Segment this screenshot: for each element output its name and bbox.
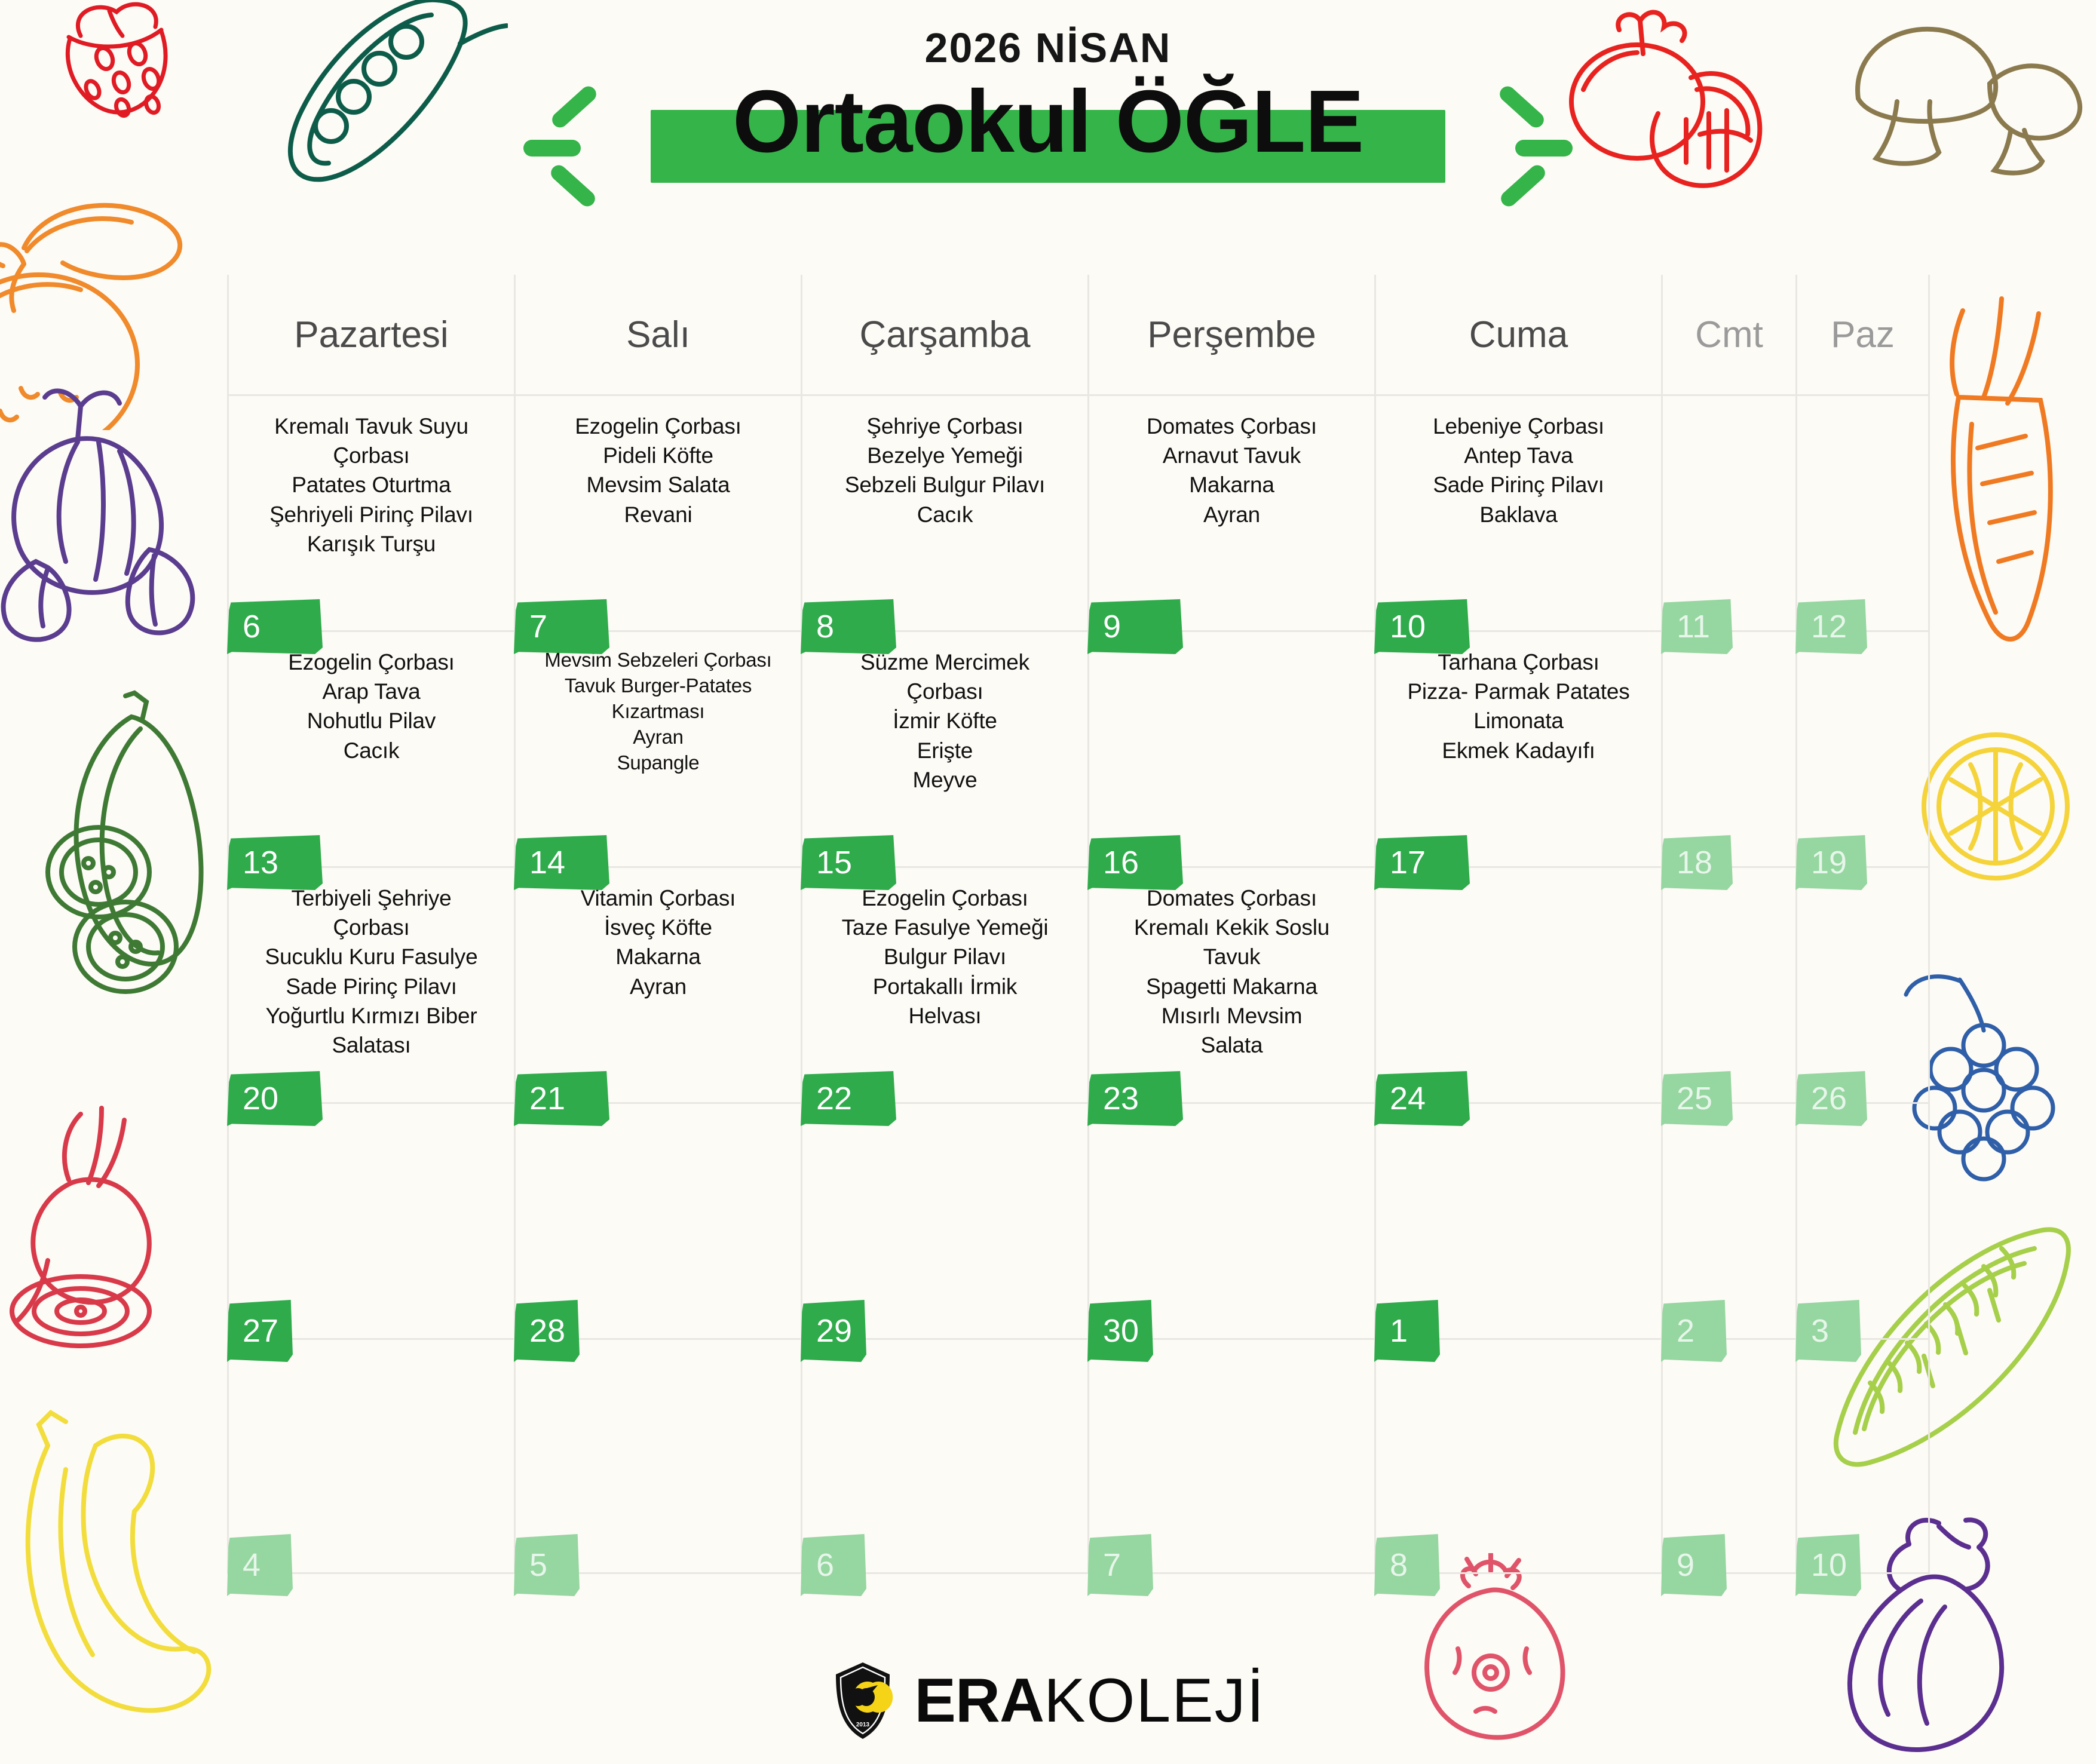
date-badge: 15 [801, 835, 896, 890]
date-badge: 17 [1374, 835, 1470, 890]
day-cell[interactable]: Tarhana Çorbası Pizza- Parmak Patates Li… [1374, 630, 1661, 866]
day-cell[interactable]: Lebeniye Çorbası Antep Tava Sade Pirinç … [1374, 394, 1661, 630]
day-cell[interactable]: 27 [227, 1102, 514, 1338]
shield-year-text: 2013 [856, 1722, 869, 1728]
day-header-paz: Paz [1795, 275, 1930, 394]
date-badge: 4 [227, 1534, 293, 1596]
day-cell[interactable]: 8 [1374, 1338, 1661, 1574]
day-cell[interactable]: 30 [1087, 1102, 1374, 1338]
date-badge: 27 [227, 1300, 293, 1362]
footer-logo: 2013 ERAKOLEJİ [0, 1661, 2096, 1740]
date-badge: 11 [1661, 599, 1733, 654]
menu-text: Ezogelin Çorbası Taze Fasulye Yemeği Bul… [811, 883, 1079, 1030]
menu-text: Lebeniye Çorbası Antep Tava Sade Pirinç … [1384, 412, 1653, 529]
date-badge: 29 [801, 1300, 866, 1362]
date-badge: 3 [1795, 1300, 1861, 1362]
sparkle-right-3 [1498, 162, 1548, 210]
day-cell[interactable]: Süzme Mercimek Çorbası İzmir Köfte Erişt… [801, 630, 1087, 866]
day-cell[interactable]: 7 [1087, 1338, 1374, 1574]
menu-text: Tarhana Çorbası Pizza- Parmak Patates Li… [1384, 648, 1653, 765]
day-cell[interactable]: 25 [1661, 866, 1795, 1102]
date-badge: 5 [514, 1534, 580, 1596]
week-row-3: Terbiyeli Şehriye Çorbası Sucuklu Kuru F… [227, 866, 1918, 1102]
date-badge: 24 [1374, 1071, 1470, 1126]
day-cell[interactable]: 28 [514, 1102, 801, 1338]
day-cell[interactable]: 3 [1795, 1102, 1930, 1338]
day-cell[interactable]: Ezogelin Çorbası Arap Tava Nohutlu Pilav… [227, 630, 514, 866]
day-cell[interactable]: 18 [1661, 630, 1795, 866]
date-badge: 9 [1087, 599, 1183, 654]
day-cell[interactable]: 11 [1661, 394, 1795, 630]
week-row-1: Kremalı Tavuk Suyu Çorbası Patates Oturt… [227, 394, 1918, 630]
day-cell[interactable]: 6 [801, 1338, 1087, 1574]
date-badge: 14 [514, 835, 609, 890]
day-cell[interactable]: 29 [801, 1102, 1087, 1338]
date-badge: 9 [1661, 1534, 1727, 1596]
week-row-2: Ezogelin Çorbası Arap Tava Nohutlu Pilav… [227, 630, 1918, 866]
menu-text: Ezogelin Çorbası Pideli Köfte Mevsim Sal… [524, 412, 792, 529]
sparkle-right-1 [1497, 83, 1547, 131]
menu-calendar: Pazartesi Salı Çarşamba Perşembe Cuma Cm… [227, 275, 1918, 1574]
date-badge: 19 [1795, 835, 1867, 890]
day-cell[interactable]: Mevsim Sebzeleri Çorbası Tavuk Burger-Pa… [514, 630, 801, 866]
menu-text: Mevsim Sebzeleri Çorbası Tavuk Burger-Pa… [524, 648, 792, 775]
date-badge: 25 [1661, 1071, 1733, 1126]
logo-wordmark: ERAKOLEJİ [915, 1665, 1265, 1737]
day-cell[interactable]: Kremalı Tavuk Suyu Çorbası Patates Oturt… [227, 394, 514, 630]
menu-text: Şehriye Çorbası Bezelye Yemeği Sebzeli B… [811, 412, 1079, 529]
date-badge: 10 [1374, 599, 1470, 654]
sparkle-left-3 [548, 162, 598, 210]
logo-koleji-text: KOLEJİ [1044, 1665, 1265, 1737]
date-badge: 18 [1661, 835, 1733, 890]
menu-text: Ezogelin Çorbası Arap Tava Nohutlu Pilav… [237, 648, 505, 765]
page-header: 2026 NİSAN Ortaokul ÖĞLE [0, 0, 2096, 251]
date-badge: 1 [1374, 1300, 1440, 1362]
date-badge: 16 [1087, 835, 1183, 890]
day-header-persembe: Perşembe [1087, 275, 1374, 394]
menu-text: Domates Çorbası Kremalı Kekik Soslu Tavu… [1098, 883, 1366, 1060]
date-badge: 20 [227, 1071, 323, 1126]
date-badge: 7 [1087, 1534, 1153, 1596]
day-cell[interactable]: 24 [1374, 866, 1661, 1102]
day-cell[interactable]: 2 [1661, 1102, 1795, 1338]
day-cell[interactable]: Domates Çorbası Arnavut Tavuk Makarna Ay… [1087, 394, 1374, 630]
day-cell[interactable]: 26 [1795, 866, 1930, 1102]
month-label: 2026 NİSAN [925, 24, 1172, 72]
sparkle-left-1 [549, 83, 599, 131]
day-header-cuma: Cuma [1374, 275, 1661, 394]
day-cell[interactable]: Ezogelin Çorbası Pideli Köfte Mevsim Sal… [514, 394, 801, 630]
menu-text: Süzme Mercimek Çorbası İzmir Köfte Erişt… [811, 648, 1079, 794]
day-cell[interactable]: 1 [1374, 1102, 1661, 1338]
day-header-cmt: Cmt [1661, 275, 1795, 394]
logo-era-text: ERA [915, 1665, 1044, 1737]
date-badge: 13 [227, 835, 323, 890]
day-header-row: Pazartesi Salı Çarşamba Perşembe Cuma Cm… [227, 275, 1918, 394]
beet-illustration [0, 1099, 227, 1350]
day-cell[interactable]: 4 [227, 1338, 514, 1574]
day-header-carsamba: Çarşamba [801, 275, 1087, 394]
date-badge: 8 [1374, 1534, 1440, 1596]
day-cell[interactable]: Şehriye Çorbası Bezelye Yemeği Sebzeli B… [801, 394, 1087, 630]
day-cell[interactable]: 5 [514, 1338, 801, 1574]
week-row-4: 27 28 29 30 1 2 3 [227, 1102, 1918, 1338]
day-cell[interactable]: 16 [1087, 630, 1374, 866]
day-cell[interactable]: 12 [1795, 394, 1930, 630]
menu-text: Terbiyeli Şehriye Çorbası Sucuklu Kuru F… [237, 883, 505, 1060]
date-badge: 30 [1087, 1300, 1153, 1362]
day-header-pazartesi: Pazartesi [227, 275, 514, 394]
date-badge: 6 [227, 599, 323, 654]
sparkle-left-2 [523, 140, 581, 157]
date-badge: 28 [514, 1300, 580, 1362]
menu-text: Vitamin Çorbası İsveç Köfte Makarna Ayra… [524, 883, 792, 1001]
menu-text: Kremalı Tavuk Suyu Çorbası Patates Oturt… [237, 412, 505, 559]
date-badge: 2 [1661, 1300, 1727, 1362]
date-badge: 21 [514, 1071, 609, 1126]
date-badge: 6 [801, 1534, 866, 1596]
date-badge: 22 [801, 1071, 896, 1126]
day-cell[interactable]: 9 [1661, 1338, 1795, 1574]
date-badge: 8 [801, 599, 896, 654]
day-header-sali: Salı [514, 275, 801, 394]
day-cell[interactable]: 10 [1795, 1338, 1930, 1574]
menu-text: Domates Çorbası Arnavut Tavuk Makarna Ay… [1098, 412, 1366, 529]
era-shield-icon: 2013 [831, 1661, 894, 1740]
date-badge: 26 [1795, 1071, 1867, 1126]
date-badge: 12 [1795, 599, 1867, 654]
day-cell[interactable]: Ezogelin Çorbası Taze Fasulye Yemeği Bul… [801, 866, 1087, 1102]
sparkle-right-2 [1515, 140, 1573, 157]
page-title: Ortaokul ÖĞLE [697, 75, 1399, 168]
date-badge: 23 [1087, 1071, 1183, 1126]
title-wrap: Ortaokul ÖĞLE [697, 75, 1399, 168]
date-badge: 7 [514, 599, 609, 654]
date-badge: 10 [1795, 1534, 1861, 1596]
day-cell[interactable]: 19 [1795, 630, 1930, 866]
day-cell[interactable]: Vitamin Çorbası İsveç Köfte Makarna Ayra… [514, 866, 801, 1102]
week-row-5: 4 5 6 7 8 9 10 [227, 1338, 1918, 1574]
day-cell[interactable]: Domates Çorbası Kremalı Kekik Soslu Tavu… [1087, 866, 1374, 1102]
day-cell[interactable]: Terbiyeli Şehriye Çorbası Sucuklu Kuru F… [227, 866, 514, 1102]
onion-garlic-illustration [0, 382, 215, 645]
